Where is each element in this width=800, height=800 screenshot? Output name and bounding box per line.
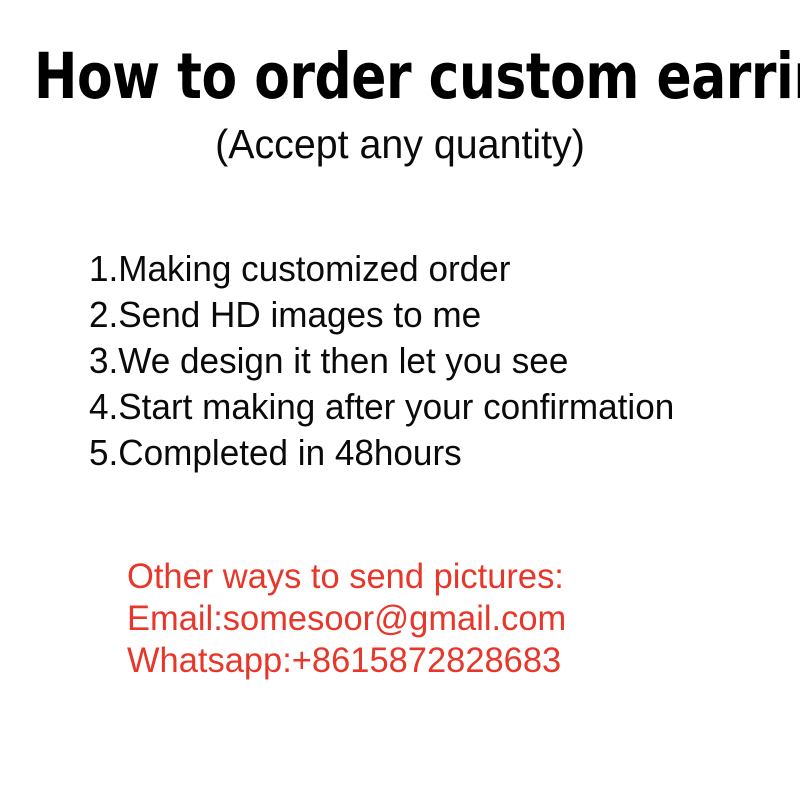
order-instructions-graphic: How to order custom earrings (Accept any… <box>0 0 800 800</box>
list-item: 2.Send HD images to me <box>89 292 772 338</box>
contact-email: Email:somesoor@gmail.com <box>127 598 757 640</box>
title-block: How to order custom earrings (Accept any… <box>0 44 800 167</box>
contact-block: Other ways to send pictures: Email:somes… <box>127 556 767 682</box>
list-item: 5.Completed in 48hours <box>89 430 772 476</box>
list-item: 3.We design it then let you see <box>89 338 772 384</box>
page-title: How to order custom earrings <box>34 44 766 110</box>
steps-list: 1.Making customized order 2.Send HD imag… <box>89 246 789 476</box>
list-item: 4.Start making after your confirmation <box>89 384 772 430</box>
page-subtitle: (Accept any quantity) <box>16 121 784 167</box>
contact-whatsapp: Whatsapp:+8615872828683 <box>127 640 757 682</box>
list-item: 1.Making customized order <box>89 246 772 292</box>
contact-heading: Other ways to send pictures: <box>127 556 757 598</box>
